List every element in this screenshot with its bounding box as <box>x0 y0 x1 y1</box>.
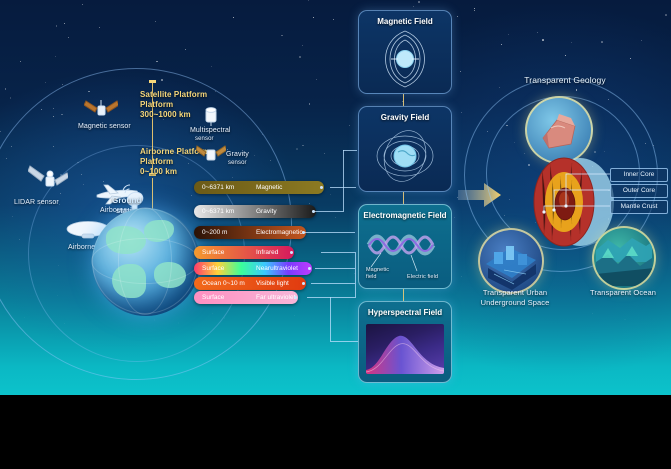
panel-hyperspectral-title: Hyperspectral Field <box>359 308 451 317</box>
earth-globe-left <box>92 208 200 316</box>
magnetic-sensor-icon <box>84 96 118 124</box>
measurement-bar-far-ultraviolet[interactable]: SurfaceFar ultraviolet <box>194 291 298 304</box>
callout-outer-core[interactable]: Outer Core <box>610 184 668 198</box>
panel-link-2 <box>403 190 404 204</box>
measurement-bar-magnetic[interactable]: 0~6371 kmMagnetic <box>194 181 324 194</box>
connector-nearuv <box>315 268 355 269</box>
magnetic-sensor-label: Magnetic sensor <box>78 122 148 131</box>
bar-name: Gravity <box>256 205 277 218</box>
bubble-ocean[interactable] <box>592 226 656 290</box>
connector-visible <box>311 283 355 284</box>
bar-depth: Ocean 0~10 m <box>202 277 245 290</box>
connector-electromagnetic <box>303 232 355 233</box>
bubble-urban-label: Transparent UrbanUnderground Space <box>470 288 560 308</box>
diagram-canvas: Satellite Platform Platform 300~1000 km … <box>0 0 671 395</box>
panel-link-3 <box>403 287 404 301</box>
multispectral-sensor-icon <box>198 104 224 128</box>
lidar-sensor-label: LIDAR sensor <box>14 198 76 207</box>
measurement-bar-gravity[interactable]: 0~6371 kmGravity <box>194 205 316 218</box>
transparent-geology-headline: Transparent Geology <box>505 76 625 85</box>
panel-electromagnetic-field[interactable]: Electromagnetic Field Magneticfield Elec… <box>358 204 452 289</box>
bar-connector-dot <box>320 186 323 189</box>
panel-link-1 <box>403 92 404 106</box>
bar-name: Electromagnetic <box>256 226 303 239</box>
measurement-bar-nearultraviolet[interactable]: SurfaceNearultraviolet <box>194 262 312 275</box>
bar-name: Magnetic <box>256 181 282 194</box>
hyperspectral-plot <box>366 324 444 374</box>
bar-connector-dot <box>294 296 297 299</box>
panel-hyperspectral-field[interactable]: Hyperspectral Field <box>358 301 452 383</box>
measurement-bar-electromagnetic[interactable]: 0~200 mElectromagnetic <box>194 226 306 239</box>
gravity-sensor-label: Gravity <box>226 150 266 159</box>
satellite-platform-name: Satellite Platform <box>140 90 210 100</box>
bar-depth: Surface <box>202 246 224 259</box>
bar-name: Far ultraviolet <box>256 291 295 304</box>
panel-gravity-title: Gravity Field <box>359 113 451 122</box>
bar-name: Infrared <box>256 246 278 259</box>
bar-depth: 0~200 m <box>202 226 227 239</box>
bubble-urban[interactable] <box>478 228 544 294</box>
bar-depth: Surface <box>202 262 224 275</box>
bar-name: Nearultraviolet <box>256 262 298 275</box>
panel-magnetic-field[interactable]: Magnetic Field <box>358 10 452 94</box>
bar-depth: 0~6371 km <box>202 205 234 218</box>
panel-magnetic-title: Magnetic Field <box>359 17 451 26</box>
measurement-bar-visible-light[interactable]: Ocean 0~10 mVisible light <box>194 277 306 290</box>
bar-connector-dot <box>290 251 293 254</box>
callout-inner-core[interactable]: Inner Core <box>610 168 668 182</box>
gravity-sensor-icon <box>196 142 226 168</box>
measurement-bar-infrared[interactable]: SurfaceInfrared <box>194 246 294 259</box>
bubble-ocean-label: Transparent Ocean <box>578 288 668 297</box>
bar-connector-dot <box>308 267 311 270</box>
lidar-sensor-icon <box>28 164 68 196</box>
bar-depth: 0~6371 km <box>202 181 234 194</box>
bar-name: Visible light <box>256 277 289 290</box>
bar-depth: Surface <box>202 291 224 304</box>
airborne-platform-altitude: 0~100 km <box>140 167 210 177</box>
callout-mantle-crust[interactable]: Mantle Crust <box>610 200 668 214</box>
bar-connector-dot <box>302 282 305 285</box>
connector-hyperspectral <box>330 341 358 342</box>
scale-tick-top <box>149 80 156 83</box>
connector-infrared <box>321 252 355 253</box>
panel-gravity-field[interactable]: Gravity Field <box>358 106 452 192</box>
ground-station-label: Ground <box>112 196 160 205</box>
connector-faruv <box>307 297 355 298</box>
multispectral-sensor-label: Multispectral <box>190 126 242 135</box>
connector-gravity <box>313 211 343 212</box>
